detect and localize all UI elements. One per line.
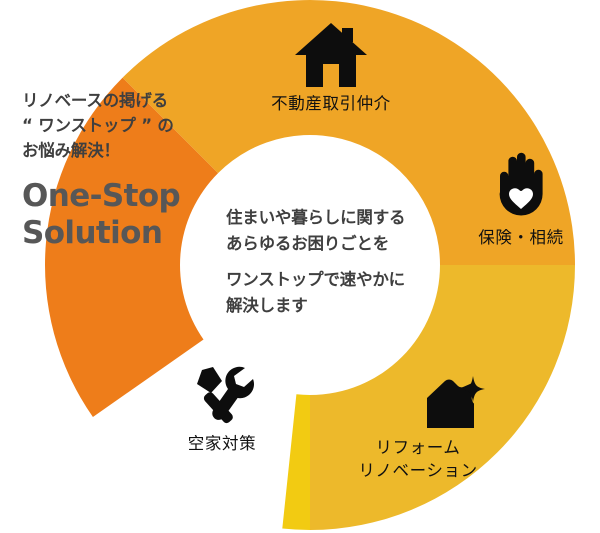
infographic-canvas: リノベースの掲げる “ ワンストップ ” の お悩み解決！ One-Stop S… bbox=[0, 0, 600, 533]
house-icon bbox=[233, 22, 429, 88]
house-sparkle-icon bbox=[404, 376, 506, 432]
segment-label-vacant-text: 空家対策 bbox=[142, 432, 302, 455]
segment-label-reform[interactable]: リフォーム リノベーション bbox=[330, 376, 506, 483]
center-paragraph-1-line-2: あらゆるお困りごとを bbox=[226, 231, 456, 257]
center-description: 住まいや暮らしに関する あらゆるお困りごとを ワンストップで速やかに 解決します bbox=[226, 205, 456, 318]
hand-heart-icon bbox=[455, 152, 587, 222]
hammer-wrench-icon bbox=[142, 366, 302, 428]
lead-line-3: お悩み解決！ bbox=[22, 138, 237, 163]
segment-label-realestate[interactable]: 不動産取引仲介 bbox=[233, 22, 429, 115]
lead-line-1: リノベースの掲げる bbox=[22, 88, 237, 113]
headline-block: リノベースの掲げる “ ワンストップ ” の お悩み解決！ One-Stop S… bbox=[22, 88, 237, 251]
segment-label-reform-text-2: リノベーション bbox=[330, 459, 506, 482]
center-paragraph-2-line-2: 解決します bbox=[226, 293, 456, 319]
segment-label-reform-text-1: リフォーム bbox=[330, 436, 506, 459]
page-title-line-1: One-Stop bbox=[22, 178, 237, 215]
segment-label-vacant[interactable]: 空家対策 bbox=[142, 366, 302, 455]
segment-label-realestate-text: 不動産取引仲介 bbox=[233, 92, 429, 115]
center-paragraph-1: 住まいや暮らしに関する あらゆるお困りごとを bbox=[226, 205, 456, 256]
center-paragraph-2: ワンストップで速やかに 解決します bbox=[226, 267, 456, 318]
center-paragraph-2-line-1: ワンストップで速やかに bbox=[226, 267, 456, 293]
lead-line-2: “ ワンストップ ” の bbox=[22, 113, 237, 138]
segment-label-insurance-text: 保険・相続 bbox=[455, 226, 587, 249]
segment-label-insurance[interactable]: 保険・相続 bbox=[455, 152, 587, 249]
page-title-line-2: Solution bbox=[22, 215, 237, 252]
center-paragraph-1-line-1: 住まいや暮らしに関する bbox=[226, 205, 456, 231]
page-title: One-Stop Solution bbox=[22, 178, 237, 251]
